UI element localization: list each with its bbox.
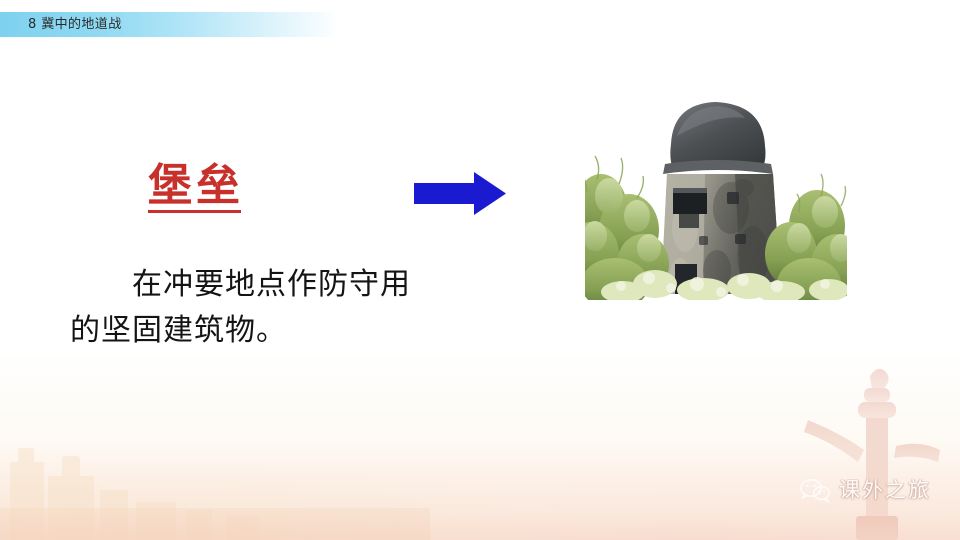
vocabulary-term-underline	[148, 210, 241, 213]
slide-canvas: 8 冀中的地道战 堡垒 在冲要地点作防守用的坚固建筑物。	[0, 0, 960, 540]
right-arrow-icon	[414, 172, 506, 216]
vocabulary-term: 堡垒	[148, 160, 244, 212]
watermark-text: 课外之旅	[839, 477, 931, 503]
faded-skyline-decoration	[0, 390, 430, 540]
watermark: 课外之旅	[800, 477, 931, 503]
header-lesson-title: 8 冀中的地道战	[28, 15, 122, 34]
bottom-warm-wash	[0, 350, 960, 540]
vocabulary-definition: 在冲要地点作防守用的坚固建筑物。	[70, 262, 430, 354]
wechat-icon	[800, 477, 830, 503]
fortress-photo	[585, 88, 847, 300]
torch-monument-icon	[800, 360, 950, 540]
